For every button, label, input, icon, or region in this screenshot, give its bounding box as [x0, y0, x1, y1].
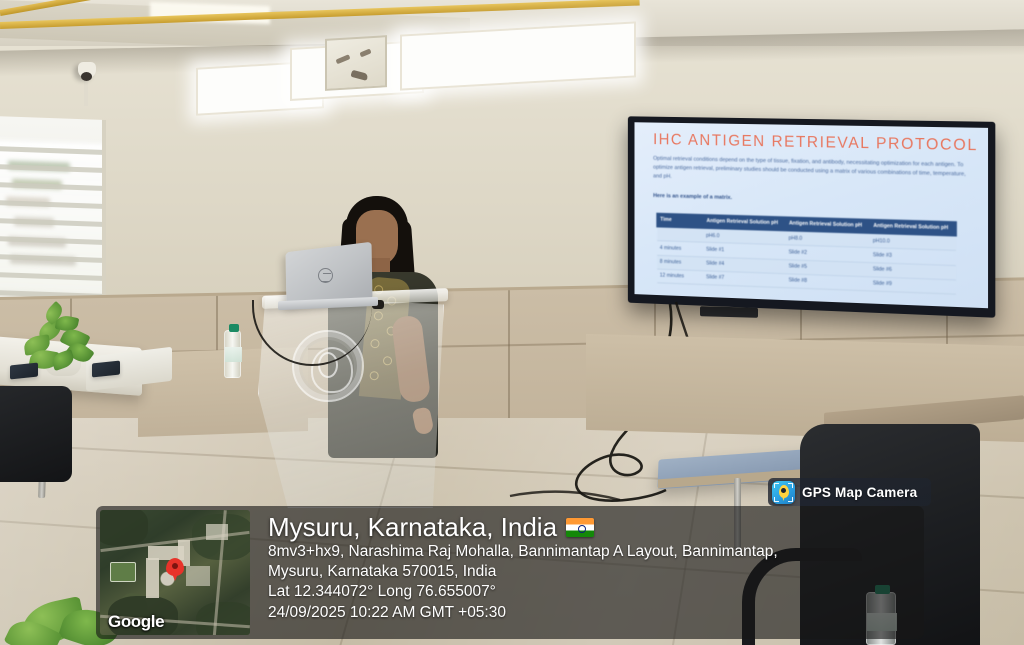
gps-timestamp: 24/09/2025 10:22 AM GMT +05:30: [268, 603, 914, 623]
table-cell: Slide #9: [870, 276, 956, 294]
gps-address-line-1: 8mv3+hx9, Narashima Raj Mohalla, Bannima…: [268, 542, 914, 562]
gps-city-line: Mysuru, Karnataka, India: [268, 513, 914, 542]
water-bottle-ledge: [224, 330, 241, 378]
gps-map-camera-icon: [772, 481, 795, 504]
wall-framed-panel: [325, 35, 387, 91]
gps-location-overlay: Google Mysuru, Karnataka, India 8mv3+hx9…: [96, 506, 924, 639]
wall-television: IHC ANTIGEN RETRIEVAL PROTOCOL Optimal r…: [628, 116, 995, 317]
cctv-camera-icon: [78, 62, 96, 78]
india-flag-icon: [566, 518, 594, 537]
gps-text-block: Mysuru, Karnataka, India 8mv3+hx9, Naras…: [254, 506, 924, 639]
gps-address-line-2: Mysuru, Karnataka 570015, India: [268, 562, 914, 582]
map-location-pin: [166, 558, 184, 576]
gps-coordinates: Lat 12.344072° Long 76.655007°: [268, 582, 914, 602]
tv-screen: IHC ANTIGEN RETRIEVAL PROTOCOL Optimal r…: [634, 122, 988, 308]
table-cell: [657, 227, 703, 242]
google-watermark: Google: [108, 612, 164, 632]
gps-map-camera-badge: GPS Map Camera: [768, 478, 931, 506]
table-cell: Slide #8: [786, 273, 870, 290]
map-thumbnail[interactable]: Google: [100, 510, 250, 635]
notepad-right: [92, 361, 120, 378]
photo-canvas: IHC ANTIGEN RETRIEVAL PROTOCOL Optimal r…: [0, 0, 1024, 645]
gps-map-camera-label: GPS Map Camera: [802, 485, 917, 500]
table-cell: Slide #7: [703, 270, 785, 287]
slide-title: IHC ANTIGEN RETRIEVAL PROTOCOL: [653, 131, 978, 155]
table-column-header-0: Time: [657, 213, 703, 229]
slide-note-text: Here is an example of a matrix.: [653, 193, 732, 201]
gps-city-label: Mysuru, Karnataka, India: [268, 513, 557, 542]
slide-body-text: Optimal retrieval conditions depend on t…: [653, 155, 968, 188]
table-cell: 12 minutes: [657, 269, 703, 285]
notepad-left: [10, 363, 38, 380]
slide-matrix-table: TimeAntigen Retrieval Solution pHAntigen…: [656, 212, 956, 294]
left-chair: [0, 386, 72, 482]
hp-logo-icon: [318, 268, 333, 283]
